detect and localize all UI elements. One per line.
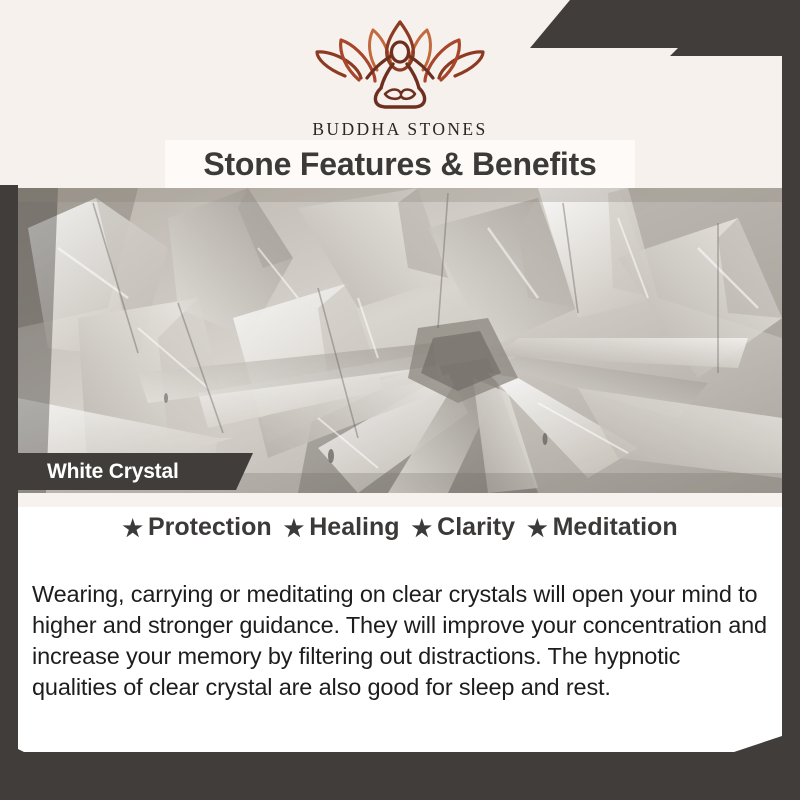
benefit-label-1: Healing (309, 513, 399, 541)
title-band: Stone Features & Benefits (165, 140, 635, 188)
star-icon: ★ (527, 515, 548, 541)
brand-name: BUDDHA STONES (0, 119, 800, 140)
stone-benefits-poster: BUDDHA STONES Stone Features & Benefits (0, 0, 800, 800)
benefit-label-0: Protection (148, 513, 272, 541)
star-icon: ★ (412, 515, 433, 541)
frame-left-border (0, 185, 18, 752)
status-badge: White Crystal (18, 453, 253, 490)
page-title: Stone Features & Benefits (203, 146, 596, 183)
star-icon: ★ (122, 515, 143, 541)
description-paragraph: Wearing, carrying or meditating on clear… (32, 579, 770, 703)
benefit-item-1: ★Healing (284, 513, 400, 542)
benefit-label-3: Meditation (553, 513, 678, 541)
white-crystal-cluster-photo (18, 188, 782, 493)
benefit-label-2: Clarity (437, 513, 515, 541)
benefit-item-0: ★Protection (122, 513, 271, 542)
panel-top-divider (18, 493, 782, 507)
benefit-item-2: ★Clarity (412, 513, 515, 542)
content-panel: ★Protection★Healing★Clarity★Meditation W… (18, 493, 782, 752)
benefits-list: ★Protection★Healing★Clarity★Meditation (18, 513, 782, 542)
frame-right-border (782, 0, 800, 800)
stone-name-label: White Crystal (18, 460, 179, 484)
benefit-item-3: ★Meditation (527, 513, 678, 542)
star-icon: ★ (284, 515, 305, 541)
